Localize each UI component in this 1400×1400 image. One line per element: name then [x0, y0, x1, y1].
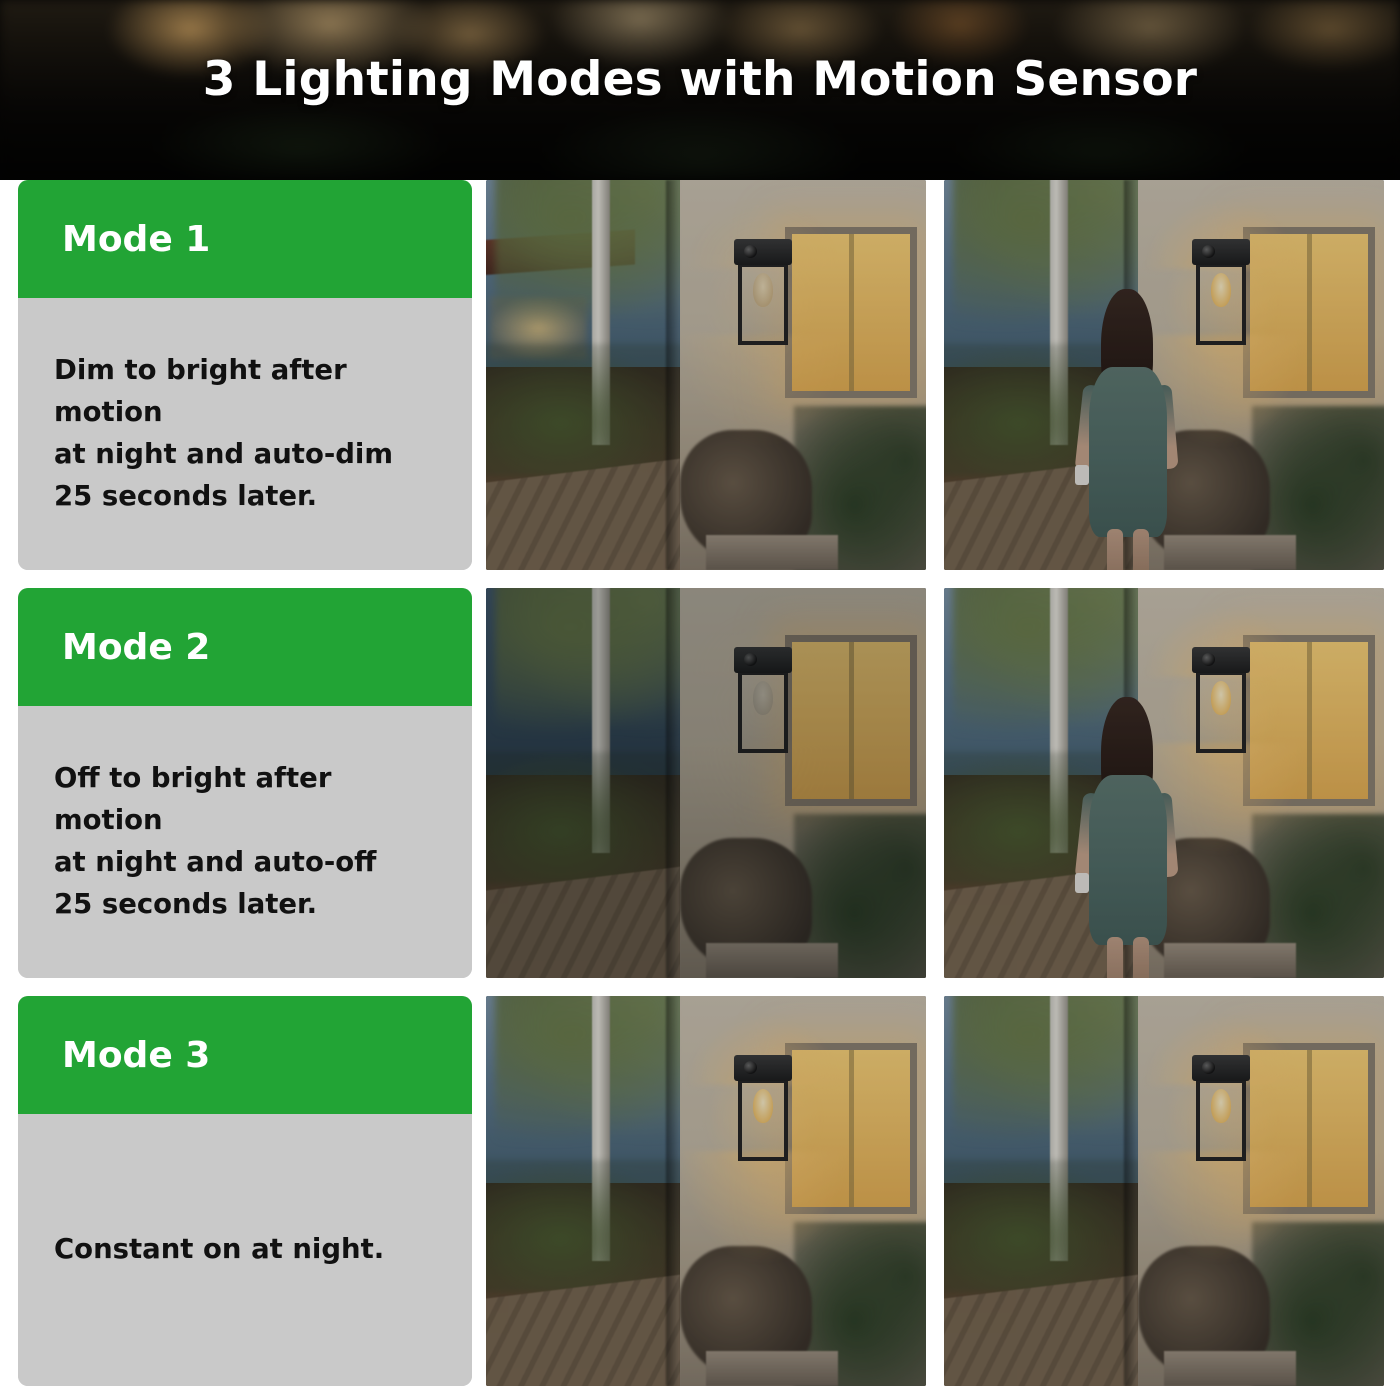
person-dress — [1089, 367, 1167, 537]
mode-card-3: Mode 3 Constant on at night. — [18, 996, 472, 1386]
person-phone — [1075, 465, 1089, 485]
light-bulb-bright — [1211, 273, 1231, 307]
entry-step — [706, 535, 838, 570]
mode-1-photo-bright — [944, 180, 1384, 570]
downlight-glow — [1138, 1151, 1304, 1261]
light-bulb-bright — [753, 1089, 773, 1123]
mode-row-2: Mode 2 Off to bright after motion at nig… — [0, 588, 1400, 978]
mode-description-1: Dim to bright after motion at night and … — [54, 350, 436, 517]
modes-list: Mode 1 Dim to bright after motion at nig… — [0, 180, 1400, 1386]
entry-step — [706, 1351, 838, 1386]
page-title: 3 Lighting Modes with Motion Sensor — [0, 52, 1400, 107]
motion-sensor-icon — [744, 653, 757, 666]
mode-3-photo-left — [486, 996, 926, 1386]
wall-lantern-fixture — [732, 239, 794, 354]
mode-row-1: Mode 1 Dim to bright after motion at nig… — [0, 180, 1400, 570]
mode-card-header-1: Mode 1 — [18, 180, 472, 298]
wall-lantern-fixture — [732, 647, 794, 762]
lantern-top-cap — [734, 239, 792, 265]
mode-card-body-3: Constant on at night. — [18, 1114, 472, 1386]
person-walking — [1067, 697, 1187, 978]
wall-corner-edge — [666, 180, 679, 570]
wall-lantern-fixture — [732, 1055, 794, 1170]
header-banner: 3 Lighting Modes with Motion Sensor — [0, 0, 1400, 180]
person-right-leg — [1133, 529, 1149, 570]
lantern-top-cap — [734, 647, 792, 673]
downlight-glow — [680, 1151, 846, 1261]
mode-card-1: Mode 1 Dim to bright after motion at nig… — [18, 180, 472, 570]
mode-title-1: Mode 1 — [62, 219, 210, 260]
light-bulb-dim — [753, 273, 773, 307]
wall-lantern-fixture — [1190, 1055, 1252, 1170]
mode-card-body-1: Dim to bright after motion at night and … — [18, 298, 472, 570]
grass-bed — [486, 344, 687, 477]
entry-step — [706, 943, 838, 978]
person-right-leg — [1133, 937, 1149, 978]
light-bulb-bright — [1211, 1089, 1231, 1123]
wall-corner-edge — [666, 996, 679, 1386]
person-dress — [1089, 775, 1167, 945]
person-phone — [1075, 873, 1089, 893]
grass-bed — [486, 1160, 687, 1293]
wall-lantern-fixture — [1190, 239, 1252, 354]
motion-sensor-icon — [1202, 1061, 1215, 1074]
mode-description-3: Constant on at night. — [54, 1229, 384, 1271]
motion-sensor-icon — [744, 1061, 757, 1074]
motion-sensor-icon — [1202, 245, 1215, 258]
motion-sensor-icon — [744, 245, 757, 258]
mode-card-header-2: Mode 2 — [18, 588, 472, 706]
mode-card-body-2: Off to bright after motion at night and … — [18, 706, 472, 978]
mode-2-photo-bright — [944, 588, 1384, 978]
lantern-top-cap — [1192, 239, 1250, 265]
wall-corner-edge — [1124, 996, 1137, 1386]
motion-sensor-icon — [1202, 653, 1215, 666]
mode-title-2: Mode 2 — [62, 627, 210, 668]
mode-1-photo-dim — [486, 180, 926, 570]
grass-bed — [486, 752, 687, 885]
mode-description-2: Off to bright after motion at night and … — [54, 758, 436, 925]
light-bulb-bright — [1211, 681, 1231, 715]
wall-corner-edge — [666, 588, 679, 978]
entry-step — [1164, 1351, 1296, 1386]
grass-bed — [944, 1160, 1145, 1293]
mode-3-photo-right — [944, 996, 1384, 1386]
person-left-leg — [1107, 529, 1123, 570]
mode-2-photo-off — [486, 588, 926, 978]
mode-card-2: Mode 2 Off to bright after motion at nig… — [18, 588, 472, 978]
lantern-top-cap — [1192, 1055, 1250, 1081]
lantern-top-cap — [734, 1055, 792, 1081]
mode-row-3: Mode 3 Constant on at night. — [0, 996, 1400, 1386]
mode-card-header-3: Mode 3 — [18, 996, 472, 1114]
downlight-glow — [680, 743, 846, 853]
person-left-leg — [1107, 937, 1123, 978]
wall-lantern-fixture — [1190, 647, 1252, 762]
downlight-glow — [680, 335, 846, 445]
lantern-top-cap — [1192, 647, 1250, 673]
mode-title-3: Mode 3 — [62, 1035, 210, 1076]
light-bulb-off — [753, 681, 773, 715]
person-walking — [1067, 289, 1187, 570]
